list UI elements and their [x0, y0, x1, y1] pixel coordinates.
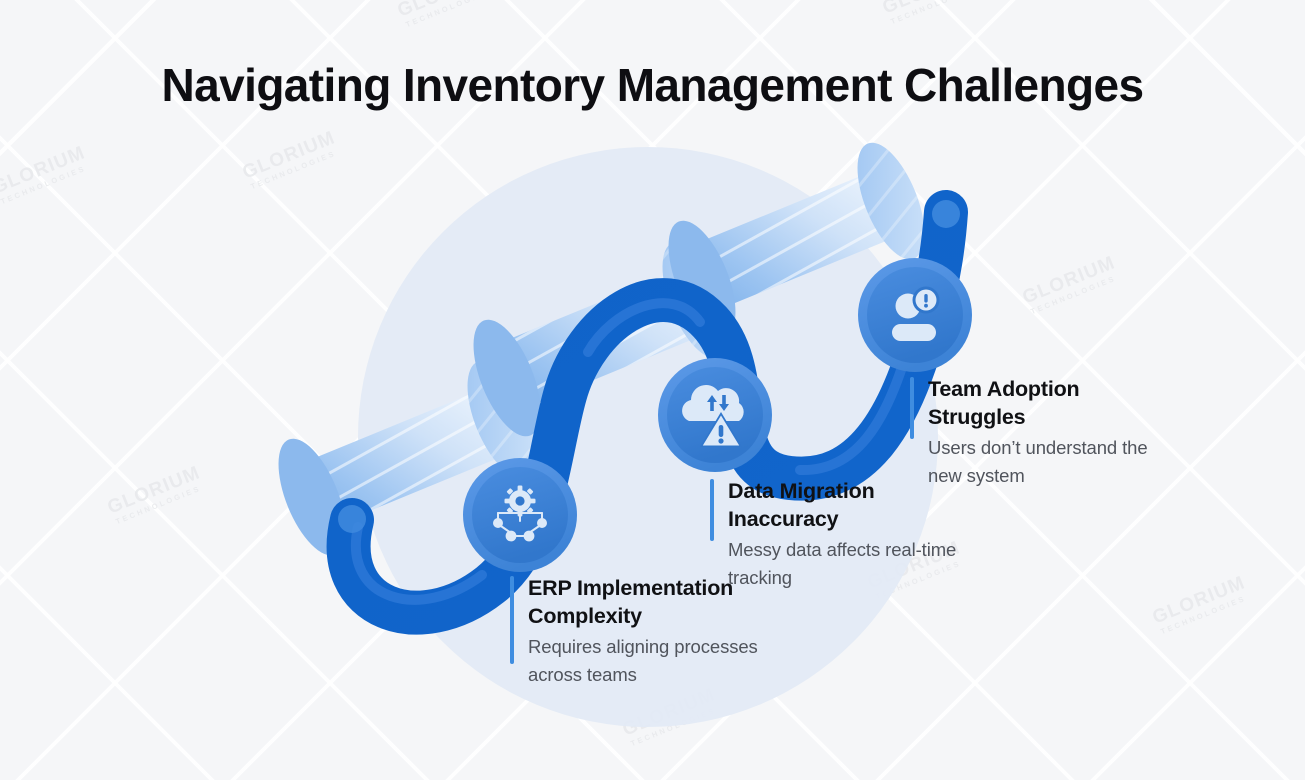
callout-body: Users don’t understand the new system — [928, 434, 1172, 488]
step-badge-team[interactable] — [858, 258, 972, 372]
callout-data: Data Migration Inaccuracy Messy data aff… — [710, 477, 972, 591]
infographic-canvas: GLORIUM TECHNOLOGIES GLORIUM TECHNOLOGIE… — [0, 0, 1305, 780]
callout-body: Messy data affects real-time tracking — [728, 536, 972, 590]
callout-accent-bar — [910, 377, 914, 439]
callout-heading: Team Adoption Struggles — [928, 375, 1172, 431]
page-title: Navigating Inventory Management Challeng… — [0, 58, 1305, 112]
ribbon-end-cap-highlight — [932, 200, 960, 228]
step-badge-erp[interactable] — [463, 458, 577, 572]
callout-erp: ERP Implementation Complexity Requires a… — [510, 574, 760, 688]
callout-team: Team Adoption Struggles Users don’t unde… — [910, 375, 1172, 489]
ribbon-start-cap-highlight — [338, 505, 366, 533]
callout-accent-bar — [710, 479, 714, 541]
callout-accent-bar — [510, 576, 514, 664]
step-badge-data[interactable] — [658, 358, 772, 472]
callout-body: Requires aligning processes across teams — [528, 633, 760, 687]
